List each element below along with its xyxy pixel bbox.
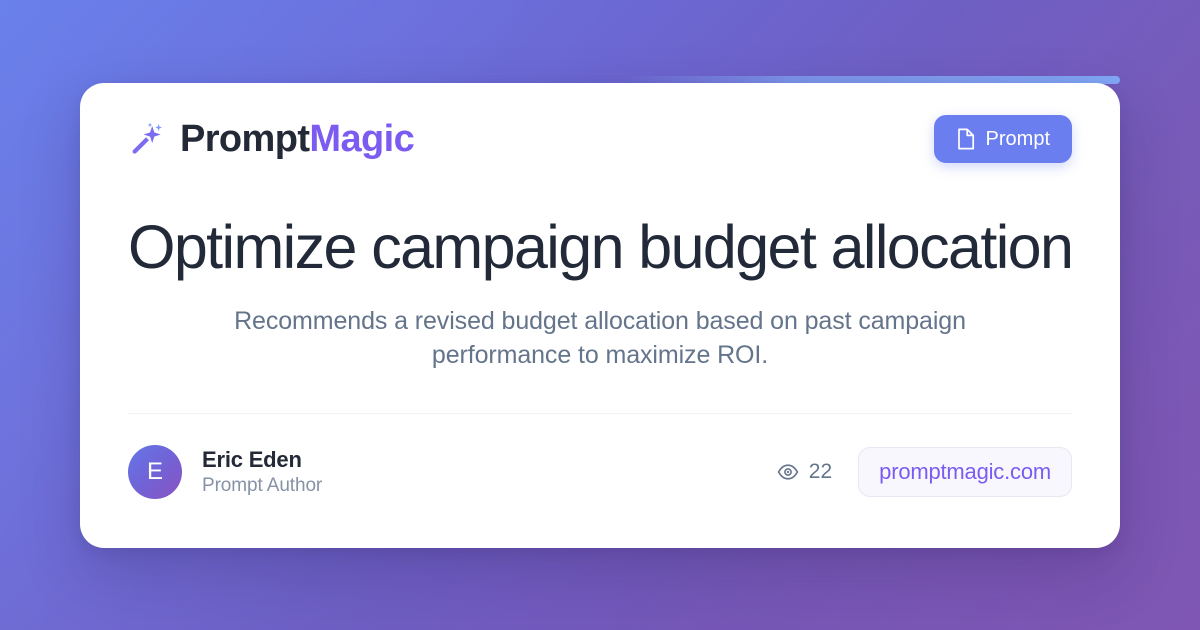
prompt-button[interactable]: Prompt: [934, 115, 1072, 163]
prompt-button-label: Prompt: [986, 128, 1050, 151]
brand-name-accent: Magic: [309, 118, 414, 160]
brand-name: PromptMagic: [180, 120, 414, 158]
card-footer: E Eric Eden Prompt Author 22 promptmagic…: [128, 414, 1072, 530]
magic-wand-icon: [128, 120, 166, 158]
page-subtitle: Recommends a revised budget allocation b…: [205, 304, 995, 373]
prompt-card: PromptMagic Prompt Optimize campaign bud…: [80, 83, 1120, 548]
domain-pill[interactable]: promptmagic.com: [858, 447, 1072, 497]
og-card-root: PromptMagic Prompt Optimize campaign bud…: [0, 0, 1200, 630]
author-block[interactable]: E Eric Eden Prompt Author: [128, 445, 322, 499]
author-text: Eric Eden Prompt Author: [202, 447, 322, 497]
footer-right: 22 promptmagic.com: [777, 447, 1072, 497]
document-icon: [956, 128, 976, 150]
author-role: Prompt Author: [202, 475, 322, 497]
view-count: 22: [777, 460, 832, 484]
author-name: Eric Eden: [202, 447, 322, 472]
card-header: PromptMagic Prompt: [128, 83, 1072, 195]
card-body: Optimize campaign budget allocation Reco…: [128, 195, 1072, 373]
brand-name-primary: Prompt: [180, 118, 309, 160]
page-title: Optimize campaign budget allocation: [128, 215, 1072, 280]
eye-icon: [777, 461, 799, 483]
view-count-value: 22: [809, 460, 832, 484]
brand-logo[interactable]: PromptMagic: [128, 120, 414, 158]
avatar: E: [128, 445, 182, 499]
